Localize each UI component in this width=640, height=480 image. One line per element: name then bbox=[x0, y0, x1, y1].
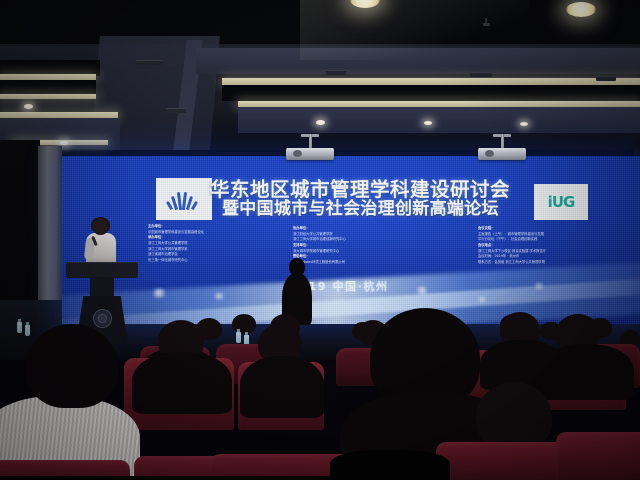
event-title-main: 华东地区城市管理学科建设研讨会 bbox=[210, 180, 540, 200]
air-vent bbox=[596, 76, 616, 81]
air-vent bbox=[470, 72, 492, 77]
audience-seating: 5 5 11 bbox=[0, 300, 640, 480]
water-bottle bbox=[25, 325, 30, 336]
ceiling-spot-light bbox=[60, 141, 68, 145]
ceiling-spot-light bbox=[316, 120, 325, 125]
ceiling-spot-light bbox=[520, 122, 528, 126]
ceiling-spot-light bbox=[24, 104, 33, 109]
iug-logo-text: iUG bbox=[548, 195, 575, 210]
presenter-at-podium bbox=[84, 218, 118, 266]
seat bbox=[436, 442, 566, 480]
round-ceiling-light bbox=[566, 2, 596, 17]
water-bottle bbox=[17, 322, 22, 333]
ceiling-projector-right bbox=[478, 134, 526, 162]
ceiling-projector-left bbox=[286, 134, 334, 162]
seat bbox=[556, 432, 640, 480]
air-vent bbox=[166, 108, 186, 113]
water-bottle bbox=[236, 332, 241, 343]
event-title-sub: 暨中国城市与社会治理创新高端论坛 bbox=[222, 201, 542, 218]
conference-hall-photo: iUG 华东地区城市管理学科建设研讨会 暨中国城市与社会治理创新高端论坛 主办单… bbox=[0, 0, 640, 480]
credit-line: 长三角一体化城市研究中心 bbox=[148, 258, 204, 264]
ceiling bbox=[0, 0, 640, 150]
sprinkler-head bbox=[483, 18, 490, 27]
audience-head bbox=[26, 324, 118, 408]
credits-column-right: 会议议程： 主旨报告（上午）：城市管理学科建设与发展 平行分论坛（下午）：社会治… bbox=[478, 226, 546, 266]
credits-column-left: 主办单位： 中国城市管理学科建设与发展高峰论坛 承办单位： 浙江工商大学公共管理… bbox=[148, 224, 204, 264]
led-backdrop-screen: iUG 华东地区城市管理学科建设研讨会 暨中国城市与社会治理创新高端论坛 主办单… bbox=[62, 156, 640, 324]
air-vent bbox=[136, 60, 162, 65]
arch-icon bbox=[167, 188, 201, 210]
air-vent bbox=[326, 70, 346, 75]
iug-logo: iUG bbox=[534, 184, 588, 220]
credit-line: 联系方式：会务组 浙江工商大学公共管理学院 bbox=[478, 260, 546, 266]
ceiling-spot-light bbox=[424, 121, 432, 125]
arch-emblem-logo bbox=[156, 178, 212, 220]
